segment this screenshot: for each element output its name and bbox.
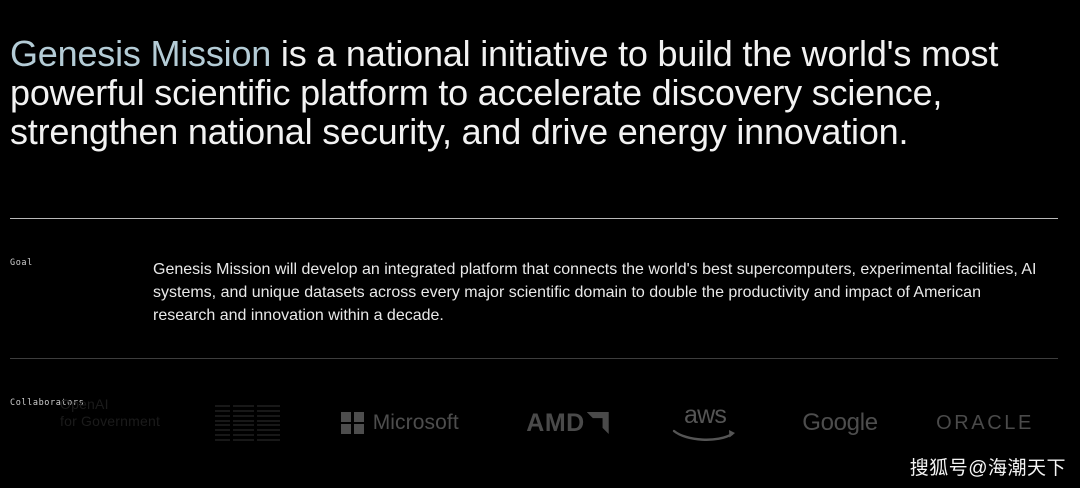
microsoft-wordmark: Microsoft xyxy=(373,411,459,435)
logo-amd: AMD xyxy=(505,396,630,450)
page-title: Genesis Mission is a national initiative… xyxy=(10,34,1050,151)
logo-microsoft: Microsoft xyxy=(325,396,475,450)
presentation-slide: Genesis Mission is a national initiative… xyxy=(0,0,1080,488)
openai-line-2: for Government xyxy=(60,413,160,430)
logo-oracle: ORACLE xyxy=(915,396,1055,450)
watermark: 搜狐号@海潮天下 xyxy=(910,453,1066,480)
collaborator-logo-row: OpenAI for Government Microsoft AMD xyxy=(0,396,1080,450)
google-wordmark: Google xyxy=(802,409,878,437)
aws-wordmark: aws xyxy=(684,403,726,427)
amd-arrow-icon xyxy=(587,412,609,434)
brand-name: Genesis Mission xyxy=(10,33,271,74)
oracle-wordmark: ORACLE xyxy=(936,412,1034,435)
divider-middle xyxy=(10,358,1058,359)
goal-body-text: Genesis Mission will develop an integrat… xyxy=(153,258,1043,327)
amd-wordmark: AMD xyxy=(526,409,584,438)
logo-aws: aws xyxy=(650,396,760,450)
ibm-mark-icon xyxy=(215,405,280,441)
logo-openai-for-government: OpenAI for Government xyxy=(60,396,210,450)
divider-top xyxy=(10,218,1058,219)
openai-line-1: OpenAI xyxy=(60,396,109,413)
goal-section-label: Goal xyxy=(10,258,33,268)
logo-ibm xyxy=(195,396,300,450)
logo-google: Google xyxy=(775,396,905,450)
microsoft-squares-icon xyxy=(341,412,364,435)
aws-smile-arrow-icon xyxy=(672,428,738,444)
